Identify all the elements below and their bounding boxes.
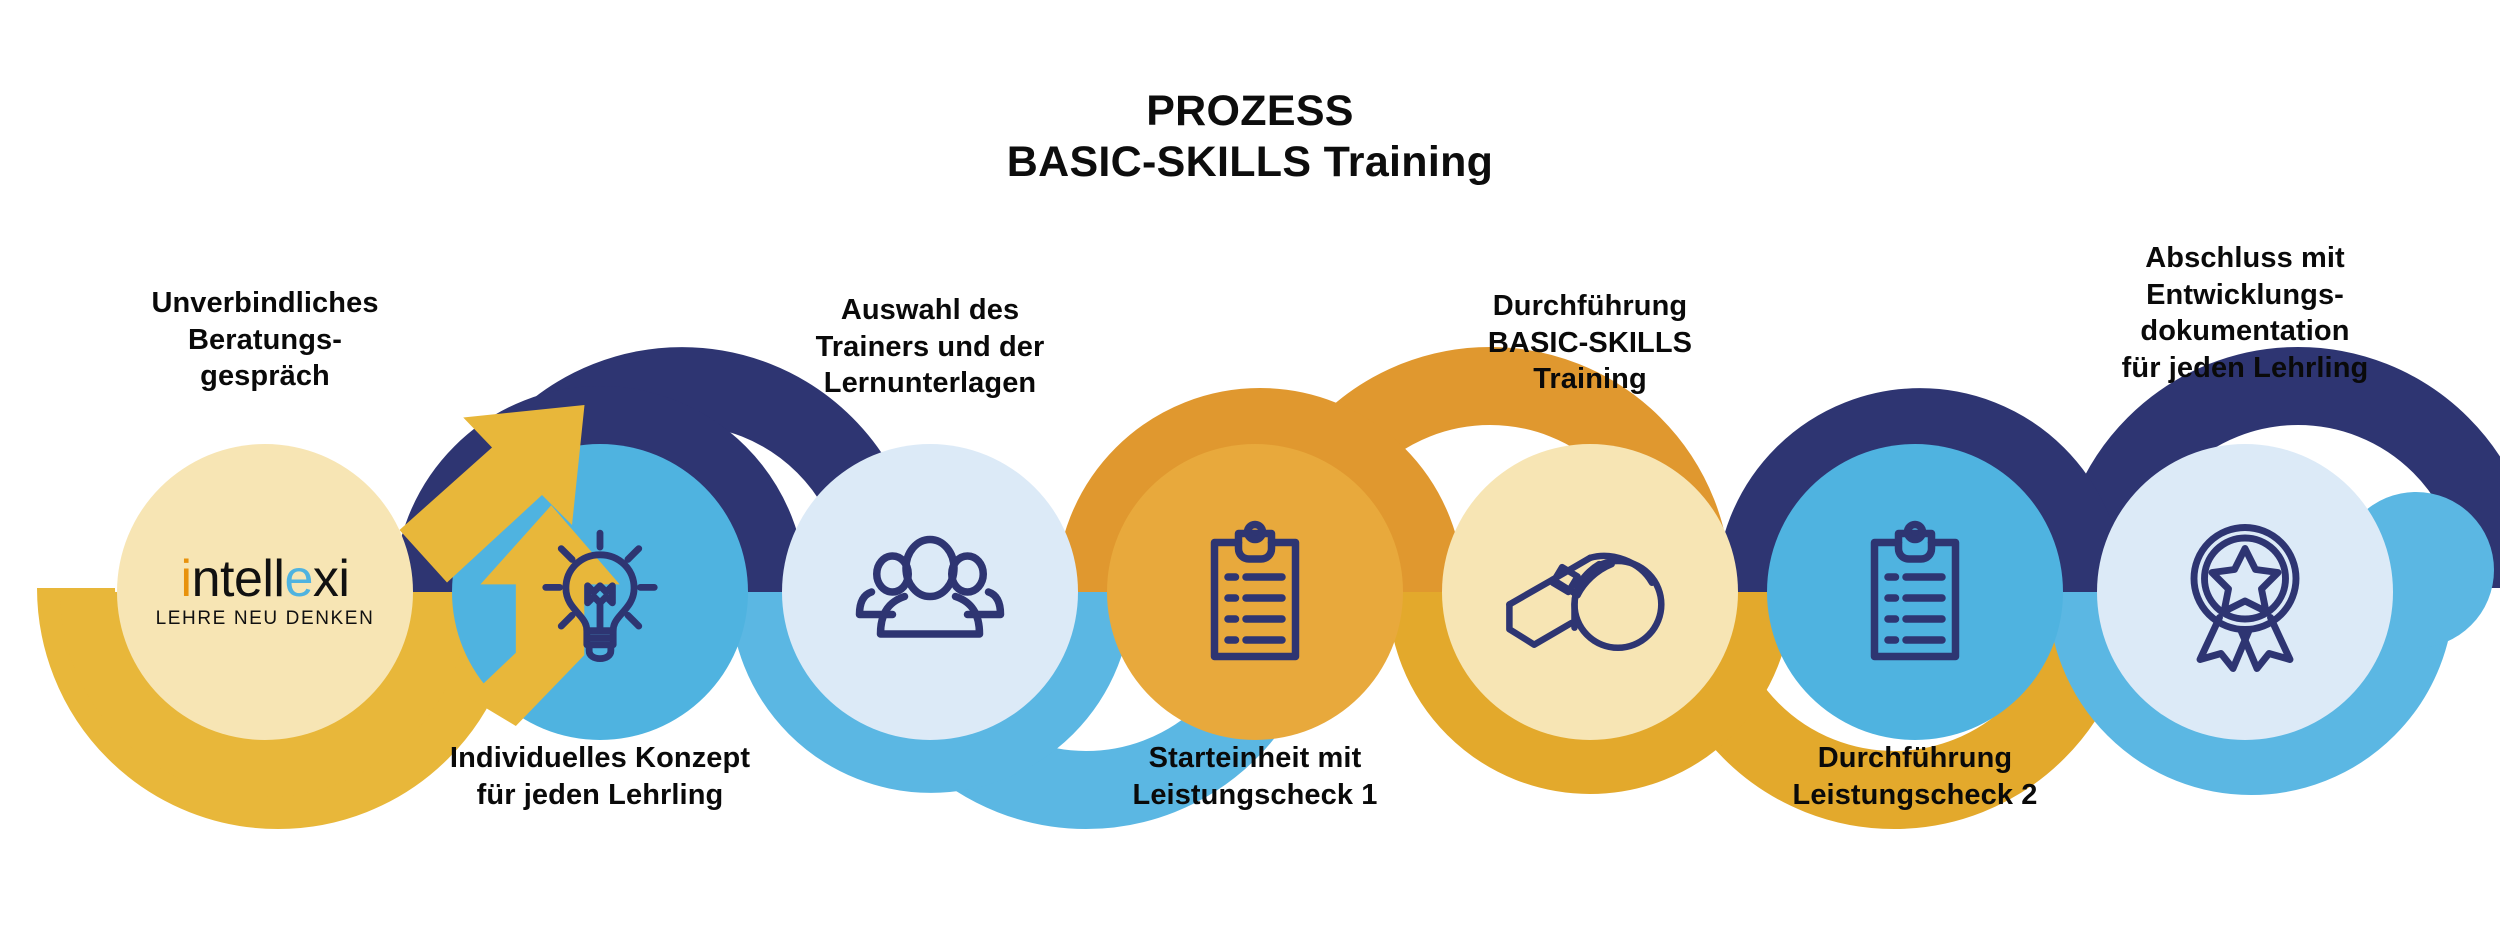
step-circle-5 (1442, 444, 1738, 740)
step-circle-7 (2097, 444, 2393, 740)
logo-xi-segment: xi (313, 550, 350, 608)
logo-wordmark: intellexi (115, 553, 415, 605)
step-label-4: Starteinheit mit Leistungscheck 1 (1025, 740, 1485, 813)
step-label-3: Auswahl des Trainers und der Lernunterla… (700, 292, 1160, 402)
step-label-1: Unverbindliches Beratungs- gespräch (35, 285, 495, 395)
logo-i-segment: i (181, 550, 192, 608)
intellexi-logo: intellexi LEHRE NEU DENKEN (115, 553, 415, 628)
step-label-2: Individuelles Konzept für jeden Lehrling (370, 740, 830, 813)
step-label-6: Durchführung Leistungscheck 2 (1685, 740, 2145, 813)
step-circle-4 (1107, 444, 1403, 740)
logo-e-segment: e (284, 550, 312, 608)
step-label-5: Durchführung BASIC-SKILLS Training (1360, 288, 1820, 398)
logo-ntell-segment: ntell (192, 550, 285, 608)
step-circle-6 (1767, 444, 2063, 740)
process-diagram: PROZESS BASIC-SKILLS Training (0, 0, 2500, 938)
logo-tagline: LEHRE NEU DENKEN (115, 609, 415, 628)
step-circle-3 (782, 444, 1078, 740)
step-label-7: Abschluss mit Entwicklungs- dokumentatio… (2030, 240, 2460, 386)
